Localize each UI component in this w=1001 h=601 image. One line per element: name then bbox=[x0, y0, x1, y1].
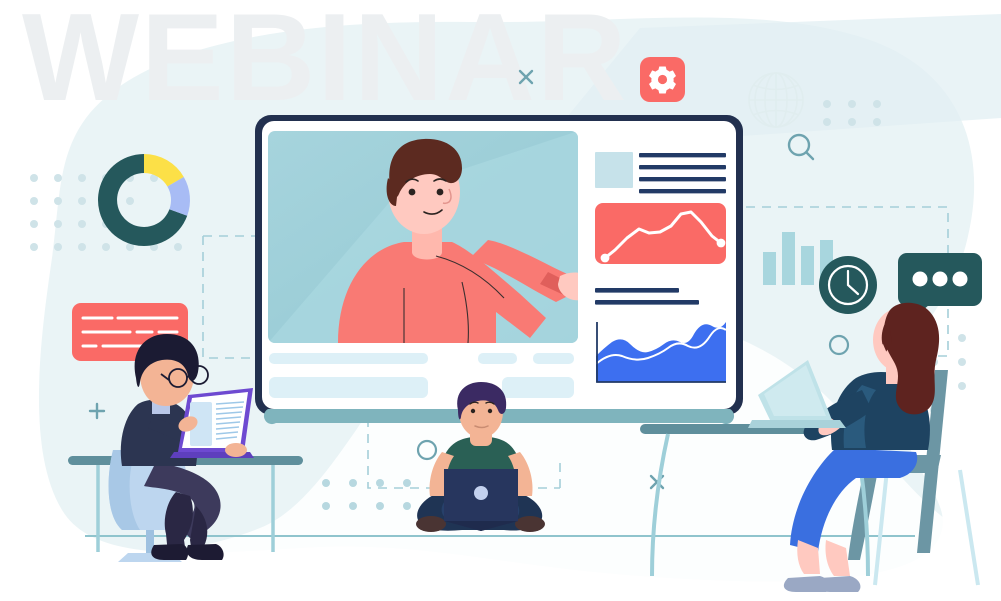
gear-icon bbox=[640, 57, 685, 102]
illustration-canvas: WEBINAR bbox=[0, 0, 1001, 601]
presentation-screen[interactable] bbox=[255, 115, 743, 424]
page-title: WEBINAR bbox=[22, 0, 628, 127]
panel-thumbnail bbox=[595, 152, 633, 188]
webinar-illustration: WEBINAR bbox=[0, 0, 1001, 601]
presenter-video[interactable] bbox=[268, 131, 593, 343]
clock-icon bbox=[819, 256, 877, 314]
line-chart-card[interactable] bbox=[595, 203, 726, 264]
globe-icon bbox=[749, 73, 803, 127]
center-person-laptop[interactable] bbox=[444, 469, 518, 531]
